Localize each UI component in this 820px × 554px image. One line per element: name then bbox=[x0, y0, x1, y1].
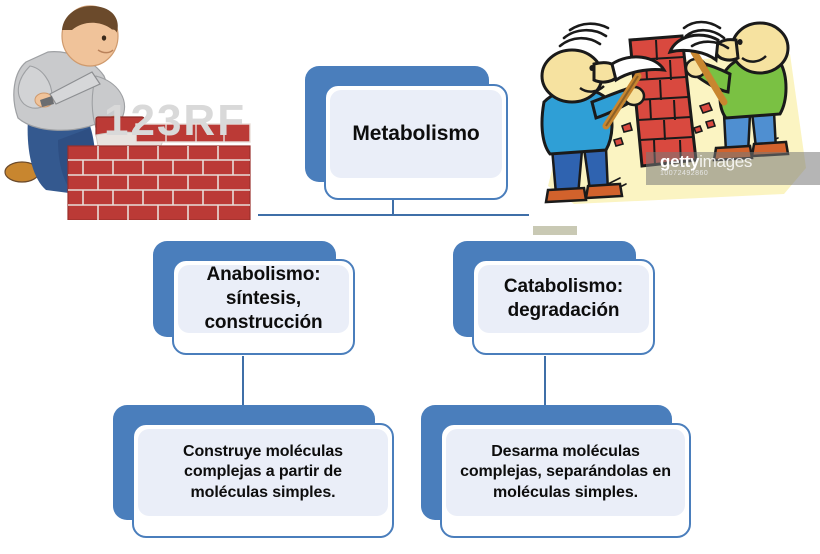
node-card: Metabolismo bbox=[324, 84, 508, 200]
connector-horizontal-trunk bbox=[258, 214, 529, 216]
connector-catabolismo-down bbox=[544, 356, 546, 406]
node-anabolismo[interactable]: Anabolismo: síntesis, construcción bbox=[153, 241, 336, 337]
node-card: Anabolismo: síntesis, construcción bbox=[172, 259, 355, 355]
node-inner-panel: Desarma moléculas complejas, separándola… bbox=[446, 429, 685, 516]
diagram-canvas: 123RF bbox=[0, 0, 820, 554]
node-metabolismo[interactable]: Metabolismo bbox=[305, 66, 489, 182]
node-description-catabolismo[interactable]: Desarma moléculas complejas, separándola… bbox=[421, 405, 672, 520]
node-card: Construye moléculas complejas a partir d… bbox=[132, 423, 394, 538]
bricklayer-illustration bbox=[0, 0, 272, 220]
node-inner-panel: Metabolismo bbox=[330, 90, 502, 178]
node-inner-panel: Construye moléculas complejas a partir d… bbox=[138, 429, 388, 516]
node-catabolismo[interactable]: Catabolismo: degradación bbox=[453, 241, 636, 337]
node-card: Desarma moléculas complejas, separándola… bbox=[440, 423, 691, 538]
node-inner-panel: Anabolismo: síntesis, construcción bbox=[178, 265, 349, 333]
node-inner-panel: Catabolismo: degradación bbox=[478, 265, 649, 333]
node-card: Catabolismo: degradación bbox=[472, 259, 655, 355]
node-label-anabolismo: Anabolismo: síntesis, construcción bbox=[198, 263, 328, 335]
node-label-description-catabolismo: Desarma moléculas complejas, separándola… bbox=[446, 442, 685, 502]
node-label-metabolismo: Metabolismo bbox=[346, 121, 485, 147]
demolition-illustration bbox=[534, 18, 820, 228]
connector-anabolismo-down bbox=[242, 356, 244, 406]
node-label-description-anabolismo: Construye moléculas complejas a partir d… bbox=[138, 442, 388, 502]
node-description-anabolismo[interactable]: Construye moléculas complejas a partir d… bbox=[113, 405, 375, 520]
node-label-catabolismo: Catabolismo: degradación bbox=[498, 275, 629, 323]
